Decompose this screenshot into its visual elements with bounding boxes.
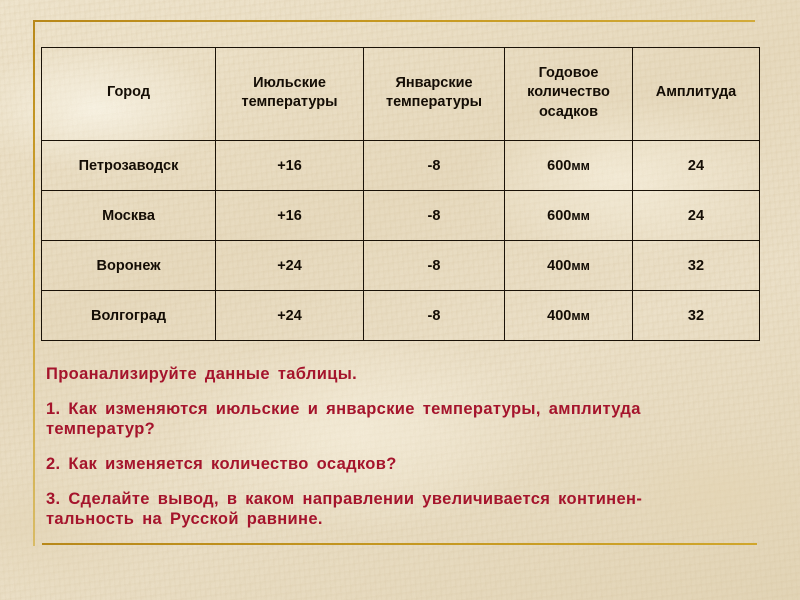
column-header-january-temperatures: Январские температуры <box>364 48 505 141</box>
column-header-amplitude-line1: Амплитуда <box>656 84 737 100</box>
column-header-city-line1: Город <box>107 84 150 100</box>
cell-city: Петрозаводск <box>42 141 216 191</box>
cell-precipitation: 400мм <box>505 241 633 291</box>
column-header-city: Город <box>42 48 216 141</box>
cell-january-temperature: -8 <box>364 291 505 341</box>
column-header-july-temperatures: Июльские температуры <box>216 48 364 141</box>
decorative-frame-top-line <box>33 20 755 22</box>
cell-july-temperature: +16 <box>216 191 364 241</box>
cell-precipitation-value: 600 <box>547 158 571 174</box>
cell-july-temperature: +24 <box>216 291 364 341</box>
cell-january-temperature: -8 <box>364 191 505 241</box>
cell-precipitation-unit: мм <box>571 159 590 173</box>
questions-block: Проанализируйте данные таблицы. 1. Как и… <box>46 365 766 529</box>
cell-precipitation-value: 400 <box>547 308 571 324</box>
cell-amplitude: 24 <box>633 191 760 241</box>
question-3-line-2: тальность на Русской равнине. <box>46 510 766 529</box>
cell-july-temperature: +16 <box>216 141 364 191</box>
cell-precipitation: 600мм <box>505 191 633 241</box>
cell-precipitation-unit: мм <box>571 259 590 273</box>
question-2-line-1: 2. Как изменяется количество осадков? <box>46 455 766 474</box>
question-1-line-2: температур? <box>46 420 766 439</box>
column-header-precip-line2: количество <box>527 84 610 100</box>
cell-january-temperature: -8 <box>364 141 505 191</box>
cell-precipitation-value: 400 <box>547 258 571 274</box>
column-header-amplitude: Амплитуда <box>633 48 760 141</box>
cell-precipitation-unit: мм <box>571 209 590 223</box>
column-header-precip-line1: Годовое <box>539 65 599 81</box>
cell-july-temperature: +24 <box>216 241 364 291</box>
cell-precipitation-unit: мм <box>571 309 590 323</box>
cell-precipitation-value: 600 <box>547 208 571 224</box>
slide-background: Город Июльские температуры Январские тем… <box>0 0 800 600</box>
question-intro: Проанализируйте данные таблицы. <box>46 365 766 384</box>
cell-precipitation: 600мм <box>505 141 633 191</box>
table-row: Петрозаводск +16 -8 600мм 24 <box>42 141 760 191</box>
cell-city: Волгоград <box>42 291 216 341</box>
question-3-line-1: 3. Сделайте вывод, в каком направлении у… <box>46 490 766 509</box>
column-header-july-line1: Июльские <box>253 75 326 91</box>
cell-city: Москва <box>42 191 216 241</box>
decorative-frame-bottom-line <box>42 543 757 545</box>
column-header-july-line2: температуры <box>241 94 337 110</box>
table-body: Петрозаводск +16 -8 600мм 24 Москва +16 … <box>42 141 760 341</box>
table-row: Москва +16 -8 600мм 24 <box>42 191 760 241</box>
question-1-line-1: 1. Как изменяются июльские и январские т… <box>46 400 766 419</box>
table-header-row: Город Июльские температуры Январские тем… <box>42 48 760 141</box>
column-header-annual-precipitation: Годовое количество осадков <box>505 48 633 141</box>
cell-precipitation: 400мм <box>505 291 633 341</box>
cell-amplitude: 32 <box>633 241 760 291</box>
decorative-frame-left-line <box>33 20 35 546</box>
column-header-precip-line3: осадков <box>539 104 598 120</box>
cell-amplitude: 24 <box>633 141 760 191</box>
table-row: Волгоград +24 -8 400мм 32 <box>42 291 760 341</box>
column-header-january-line2: температуры <box>386 94 482 110</box>
climate-data-table: Город Июльские температуры Январские тем… <box>41 47 760 341</box>
cell-amplitude: 32 <box>633 291 760 341</box>
table-row: Воронеж +24 -8 400мм 32 <box>42 241 760 291</box>
cell-city: Воронеж <box>42 241 216 291</box>
cell-january-temperature: -8 <box>364 241 505 291</box>
column-header-january-line1: Январские <box>395 75 472 91</box>
table-header: Город Июльские температуры Январские тем… <box>42 48 760 141</box>
